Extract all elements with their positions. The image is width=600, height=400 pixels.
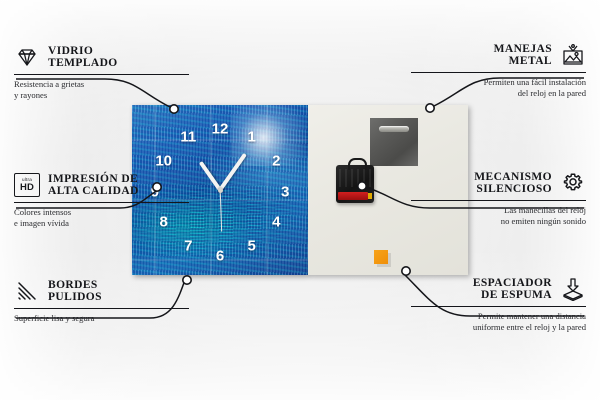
feature-divider [14, 308, 189, 309]
clock-numeral: 3 [281, 184, 289, 199]
feature-title: MECANISMO SILENCIOSO [474, 171, 552, 196]
clock-numeral: 4 [272, 215, 280, 230]
clock-numeral: 5 [248, 239, 256, 254]
clock-center-cap [218, 188, 223, 193]
feature-divider [411, 306, 586, 307]
battery [338, 192, 368, 200]
clock-numeral: 12 [212, 121, 229, 136]
feature-bordes-pulidos: BORDES PULIDOS Superficie lisa y segura [14, 278, 189, 324]
feature-subtitle: Permiten una fácil instalación del reloj… [411, 77, 586, 99]
clock-numeral: 1 [248, 130, 256, 145]
feature-title: BORDES PULIDOS [48, 279, 102, 304]
feature-subtitle: Las manecillas del reloj no emiten ningú… [411, 205, 586, 227]
movement-body [339, 169, 371, 187]
feature-title: IMPRESIÓN DE ALTA CALIDAD [48, 173, 139, 198]
feature-header: ESPACIADOR DE ESPUMA [411, 276, 586, 302]
feature-header: MECANISMO SILENCIOSO [411, 170, 586, 196]
foam-spacer [374, 250, 388, 264]
feature-header: MANEJAS METAL [411, 42, 586, 68]
foam-spacer-icon [560, 276, 586, 302]
feature-manejas-metal: MANEJAS METAL Permiten una fácil instala… [411, 42, 586, 99]
feature-divider [411, 200, 586, 201]
diamond-icon [14, 44, 40, 70]
clock-numeral: 2 [272, 154, 280, 169]
clock-numeral: 10 [155, 154, 172, 169]
ultra-hd-icon: ultra HD [14, 172, 40, 198]
feature-subtitle: Permite mantener una distancia uniforme … [411, 311, 586, 333]
feature-subtitle: Colores intensos e imagen vívida [14, 207, 189, 229]
clock-numeral: 11 [180, 130, 196, 145]
feature-divider [14, 74, 189, 75]
gear-icon [560, 170, 586, 196]
feature-header: BORDES PULIDOS [14, 278, 189, 304]
feature-impresion-alta-calidad: ultra HD IMPRESIÓN DE ALTA CALIDAD Color… [14, 172, 189, 229]
feature-vidrio-templado: VIDRIO TEMPLADO Resistencia a grietas y … [14, 44, 189, 101]
feature-divider [14, 202, 189, 203]
quartz-movement [336, 165, 374, 203]
feature-subtitle: Resistencia a grietas y rayones [14, 79, 189, 101]
polished-edges-icon [14, 278, 40, 304]
ultra-hd-icon-big-text: HD [20, 183, 34, 193]
feature-title: VIDRIO TEMPLADO [48, 45, 118, 70]
feature-divider [411, 72, 586, 73]
feature-title: ESPACIADOR DE ESPUMA [473, 277, 552, 302]
infographic-canvas: 12 1 2 3 4 5 6 7 8 9 10 11 [0, 0, 600, 400]
feature-subtitle: Superficie lisa y segura [14, 313, 189, 324]
clock-numeral: 6 [216, 249, 224, 264]
feature-header: VIDRIO TEMPLADO [14, 44, 189, 70]
clock-numeral: 7 [184, 239, 192, 254]
feature-title: MANEJAS METAL [494, 43, 552, 68]
feature-espaciador-espuma: ESPACIADOR DE ESPUMA Permite mantener un… [411, 276, 586, 333]
picture-frame-hanger-icon [560, 42, 586, 68]
metal-hanger-plate [370, 118, 418, 166]
feature-header: ultra HD IMPRESIÓN DE ALTA CALIDAD [14, 172, 189, 198]
hanger-slot [379, 126, 409, 132]
feature-mecanismo-silencioso: MECANISMO SILENCIOSO Las manecillas del … [411, 170, 586, 227]
